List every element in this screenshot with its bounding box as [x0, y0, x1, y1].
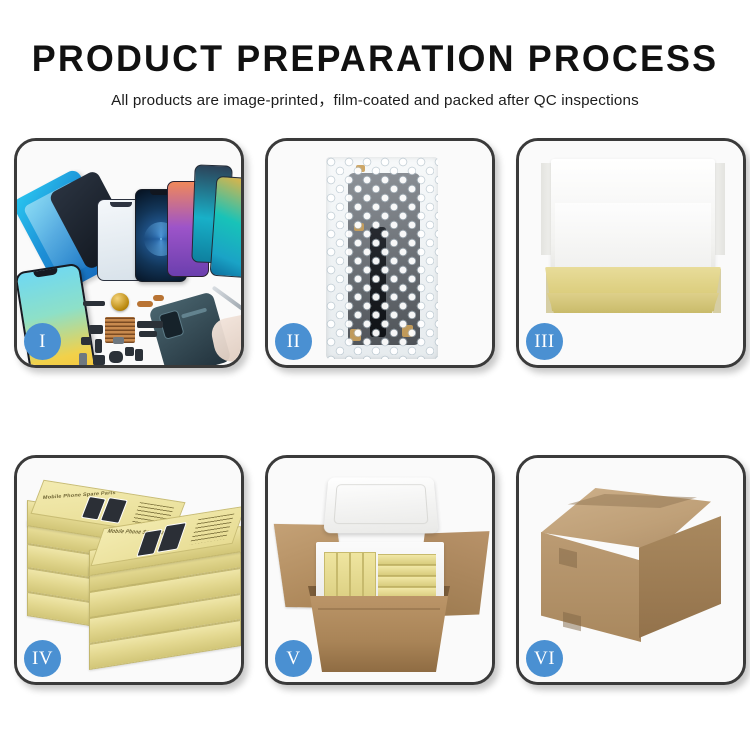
page-subtitle: All products are image-printed，film-coat…: [0, 88, 750, 110]
small-component: [109, 351, 123, 363]
speaker-component: [111, 293, 129, 311]
small-component: [89, 325, 103, 334]
small-component: [125, 347, 134, 356]
step-badge-1: I: [24, 323, 61, 360]
small-component: [83, 301, 105, 306]
infographic-page: PRODUCT PREPARATION PROCESS All products…: [0, 0, 750, 750]
step-badge-6: VI: [526, 640, 563, 677]
box-spec-lines: [190, 513, 235, 544]
step-badge-2: II: [275, 323, 312, 360]
small-component: [135, 349, 143, 361]
flex-cable: [137, 321, 163, 328]
step-card-6: VI: [516, 455, 746, 685]
inner-yellow-box: [378, 576, 436, 587]
bubble-wrap-bag: [326, 157, 438, 359]
process-steps-grid: I II: [14, 138, 736, 683]
small-component: [79, 353, 87, 365]
flex-cable: [139, 331, 157, 337]
inner-yellow-box: [337, 552, 350, 598]
foam-liner: [316, 542, 444, 602]
inner-yellow-box: [378, 565, 436, 576]
small-component: [95, 339, 102, 353]
header: PRODUCT PREPARATION PROCESS All products…: [0, 0, 750, 110]
yellow-box-front: [547, 293, 719, 313]
small-component: [113, 337, 124, 344]
foam-lid: [323, 477, 438, 533]
step-badge-5: V: [275, 640, 312, 677]
page-title: PRODUCT PREPARATION PROCESS: [11, 40, 739, 79]
small-component: [93, 355, 105, 365]
box-screen-image: [157, 522, 187, 553]
box-stack: Mobile Phone Spare Parts Mobile Phone Sp…: [27, 482, 239, 672]
foam-sheet: [555, 203, 711, 273]
step-card-5: V: [265, 455, 495, 685]
step-card-4: Mobile Phone Spare Parts Mobile Phone Sp…: [14, 455, 244, 685]
step-badge-4: IV: [24, 640, 61, 677]
step-badge-3: III: [526, 323, 563, 360]
step-card-3: III: [516, 138, 746, 368]
housing-strip: [181, 308, 207, 319]
carton-tab-lower: [563, 612, 581, 631]
step-card-2: II: [265, 138, 495, 368]
inner-yellow-box: [363, 552, 376, 598]
inner-yellow-box: [350, 552, 363, 598]
carton-left-panel: [541, 532, 641, 642]
small-component: [81, 337, 91, 345]
small-component: [137, 301, 153, 307]
carton-crease: [318, 608, 440, 610]
small-component: [153, 295, 164, 301]
inner-yellow-box: [378, 554, 436, 565]
bubble-texture: [326, 157, 438, 359]
inner-yellow-box: [324, 552, 337, 598]
step-card-1: I: [14, 138, 244, 368]
